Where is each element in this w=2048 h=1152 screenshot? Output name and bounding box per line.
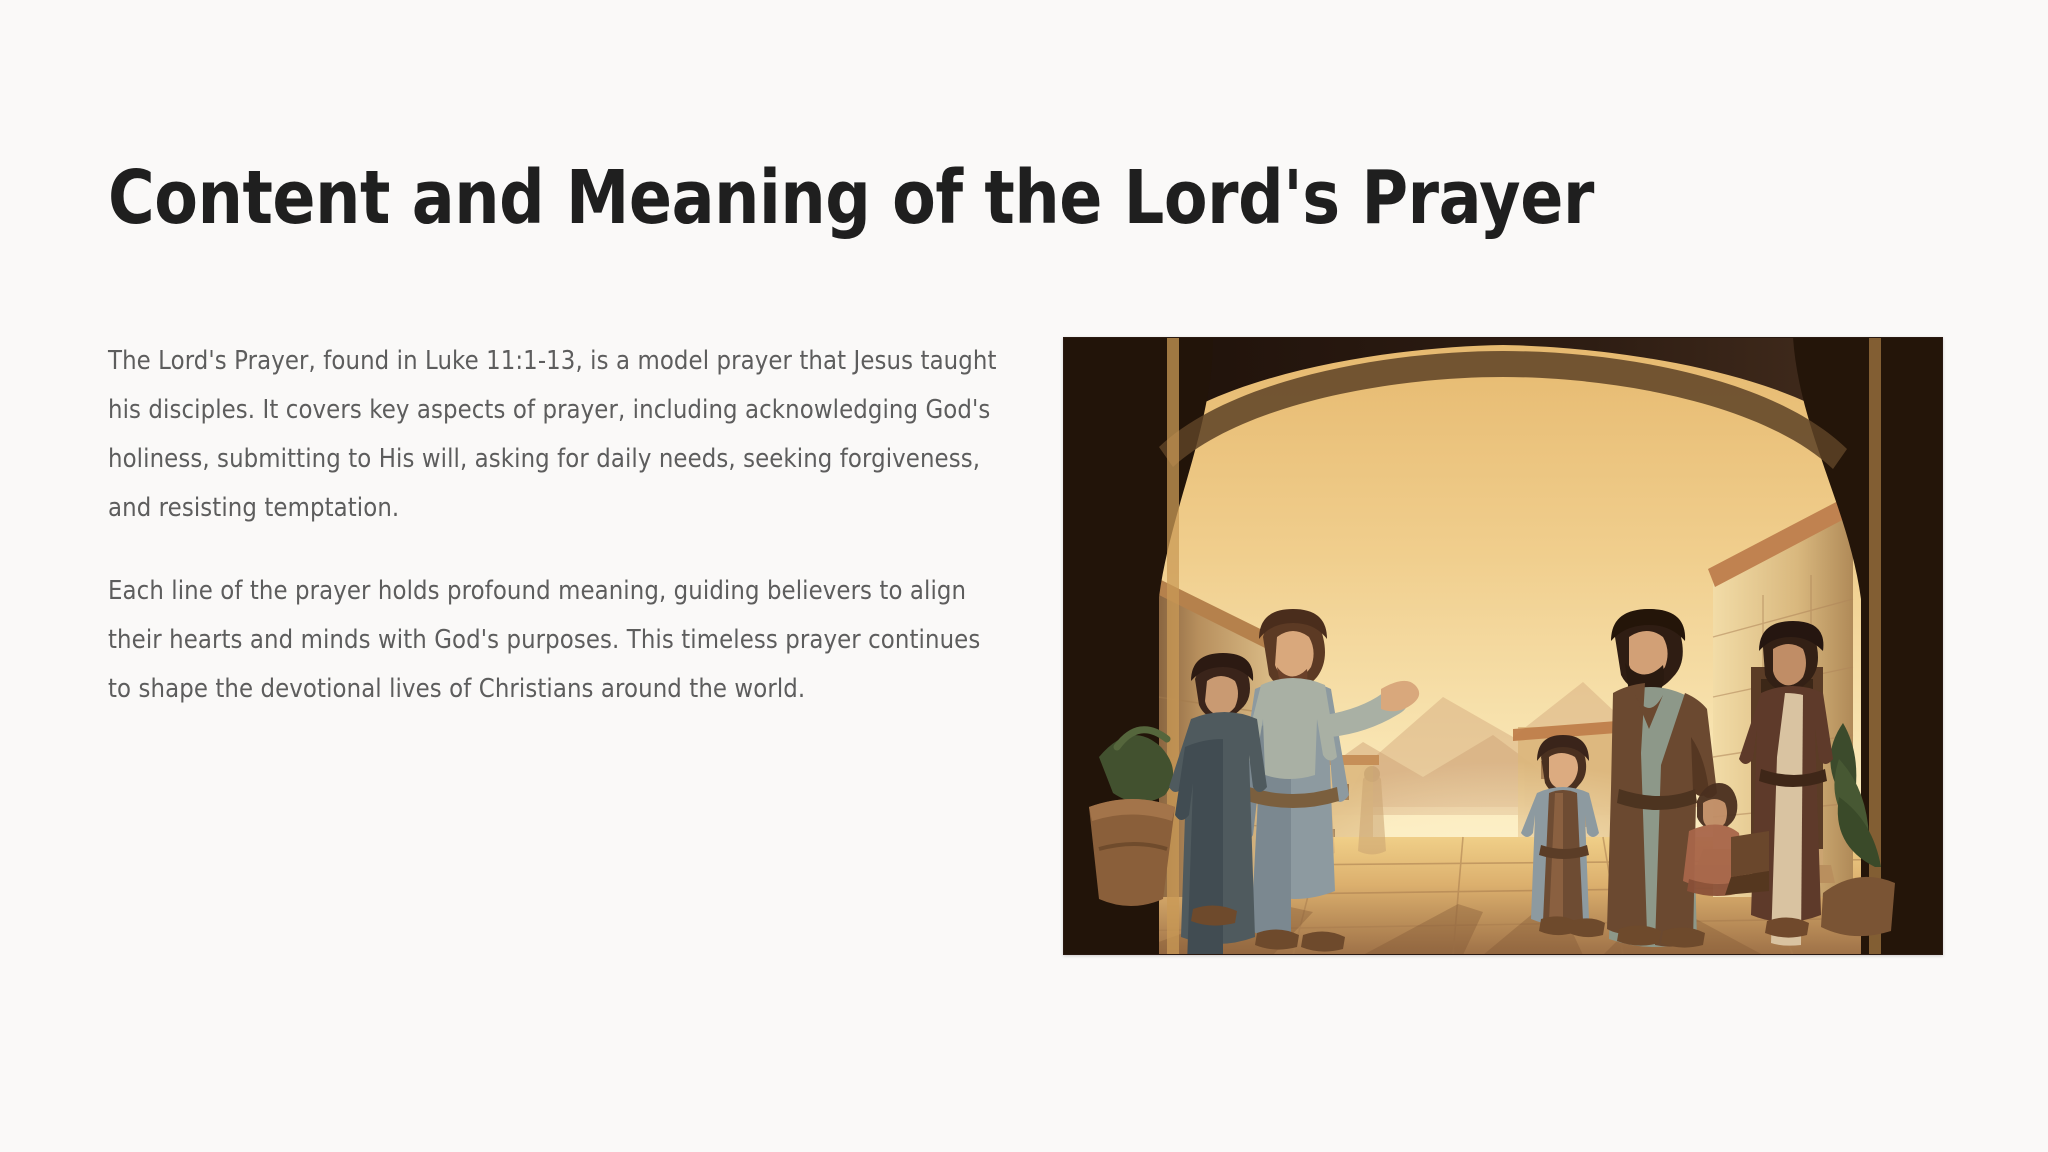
slide-root: Content and Meaning of the Lord's Prayer… (0, 0, 2048, 1152)
clay-pot-with-plant (1089, 730, 1175, 906)
body-copy: The Lord's Prayer, found in Luke 11:1-13… (108, 337, 988, 714)
illustration-svg (1063, 337, 1943, 955)
paragraph-1: The Lord's Prayer, found in Luke 11:1-13… (108, 337, 997, 533)
illustration-image (1063, 337, 1943, 955)
paragraph-2: Each line of the prayer holds profound m… (108, 567, 997, 714)
crates (1725, 831, 1769, 895)
page-title: Content and Meaning of the Lord's Prayer (108, 158, 1594, 239)
arch-left-edge-light (1167, 337, 1179, 955)
